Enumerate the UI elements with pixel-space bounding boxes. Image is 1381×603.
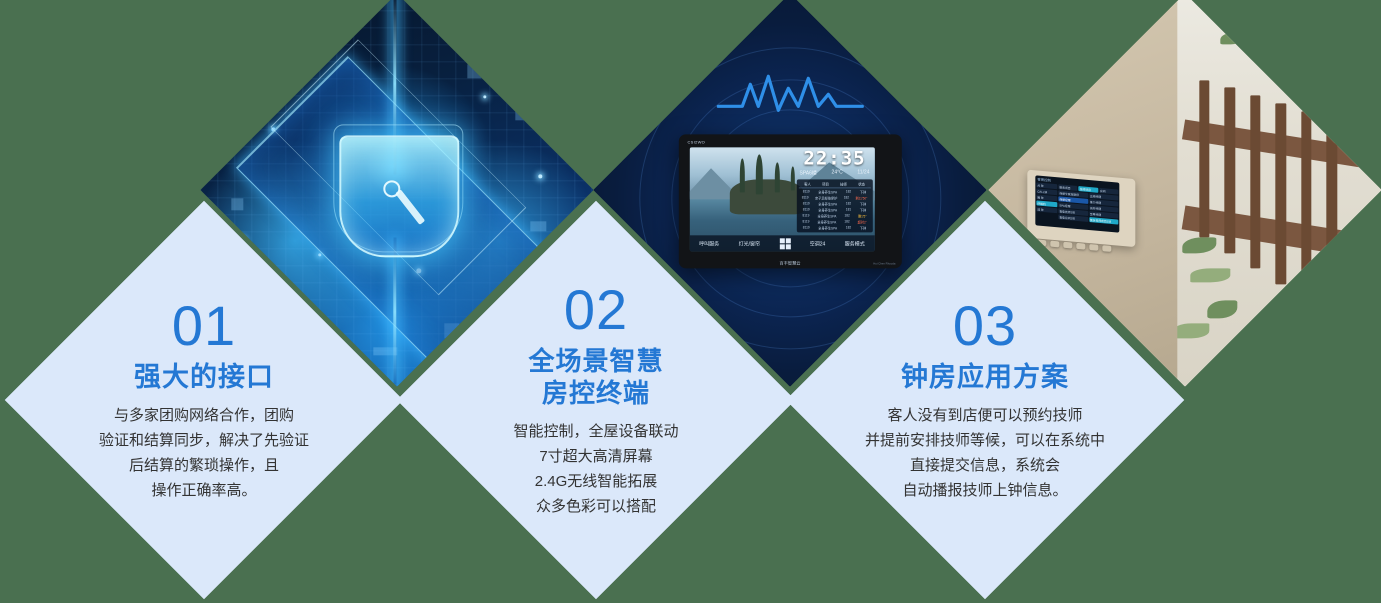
- card-body-line: 并提前安排技师等候，可以在系统中: [820, 428, 1150, 453]
- cell-tech: 182: [844, 196, 849, 201]
- room-control-tablet: CSI2WO 22:35: [678, 135, 901, 269]
- panel-right-pane[interactable]: 服务项目 技师项目 房间 保健专家按摩师 保健经理 SPA经理: [1059, 184, 1119, 225]
- cell-tech: 182: [846, 202, 851, 207]
- cell-tech: 182: [846, 190, 851, 195]
- card-body: 与多家团购网络合作，团购 验证和结算同步，解决了先验证 后结算的繁琐操作，且 操…: [39, 403, 369, 503]
- cell-status: 下钟: [860, 202, 866, 207]
- card-title-line: 全场景智慧: [431, 345, 761, 377]
- cell-guest: 8119: [803, 220, 810, 225]
- cell-item: 全身养生SPA: [818, 208, 837, 213]
- panel-button[interactable]: [1077, 243, 1086, 250]
- cell-tech: 182: [846, 226, 851, 231]
- card-body-line: 后结算的繁琐操作，且: [39, 453, 369, 478]
- table-row: 8119 全身养生SPA 182 下钟: [798, 225, 870, 231]
- tablet-temperature: 24°C: [832, 170, 843, 177]
- cell-item: 全身养生SPA: [818, 202, 837, 207]
- cell-status: 下钟: [860, 208, 866, 213]
- tablet-location: SPA6楼: [799, 170, 816, 177]
- card-title: 钟房应用方案: [820, 361, 1150, 393]
- card-body-line: 7寸超大高清屏幕: [431, 444, 761, 469]
- tablet-date: 11/24: [857, 170, 869, 177]
- shield-icon: [339, 135, 459, 257]
- card-body-line: 操作正确率高。: [39, 478, 369, 503]
- cell-tech: 182: [845, 214, 850, 219]
- card-body: 客人没有到店便可以预约技师 并提前安排技师等候，可以在系统中 直接提交信息，系统…: [820, 403, 1150, 503]
- cell-guest: 8119: [803, 214, 810, 219]
- cell-tech: 182: [844, 220, 849, 225]
- th-tech: 技师: [840, 182, 847, 187]
- btn-air-conditioner[interactable]: 空调24: [810, 240, 826, 247]
- cell-item: 全身养生SPA: [818, 190, 837, 195]
- btn-light-curtain[interactable]: 灯光/窗帘: [739, 240, 760, 247]
- wall-control-panel[interactable]: 客房控制 点 钟 CALL钟 圈 钟 终端机 选 钟: [1028, 170, 1136, 247]
- card-body-line: 与多家团购网络合作，团购: [39, 403, 369, 428]
- table-row: 8119 全身养生SPA 181 下钟: [798, 207, 870, 213]
- table-header-row: 客人 项目 技师 状态: [798, 182, 870, 189]
- cell-status: 下钟: [860, 226, 866, 231]
- cell-item: 全身养生SPA: [817, 220, 836, 225]
- cell-item: 亲子足部按摩护: [815, 196, 837, 201]
- th-guest: 客人: [804, 182, 811, 187]
- card-content: 02 全场景智慧 房控终端 智能控制，全屋设备联动 7寸超大高清屏幕 2.4G无…: [431, 281, 761, 519]
- th-item: 项目: [822, 182, 829, 187]
- table-row: 8119 全身养生SPA 182 超时2': [798, 219, 870, 225]
- tablet-time: 22:35: [796, 150, 872, 169]
- cell-item: 全身养生SPA: [818, 226, 837, 231]
- cell-guest: 8119: [803, 190, 810, 195]
- cell-item: 全身养生SPA: [818, 214, 837, 219]
- btn-call-service[interactable]: 呼叫服务: [699, 240, 719, 247]
- panel-screen[interactable]: 客房控制 点 钟 CALL钟 圈 钟 终端机 选 钟: [1036, 175, 1120, 232]
- cell-guest: 8119: [803, 202, 810, 207]
- room-background-right: [1169, 0, 1381, 387]
- tablet-footer-brand: 百丰智慧云: [678, 261, 901, 267]
- th-status: 状态: [858, 182, 865, 187]
- tablet-screen: 22:35 SPA6楼 24°C 11/24 客人 项目 技师: [689, 148, 874, 252]
- light-beam-lower: [393, 237, 396, 386]
- tablet-bottom-bar: 呼叫服务 灯光/窗帘 空调24 服务模式: [689, 236, 874, 252]
- pulse-wave-icon: [716, 72, 864, 118]
- card-body-line: 2.4G无线智能拓展: [431, 469, 761, 494]
- card-content: 01 强大的接口 与多家团购网络合作，团购 验证和结算同步，解决了先验证 后结算…: [39, 297, 369, 503]
- diamond-feature-layout: CSI2WO 22:35: [0, 0, 1381, 603]
- card-body-line: 客人没有到店便可以预约技师: [820, 403, 1150, 428]
- cell-guest: 8119: [803, 208, 810, 213]
- cell-guest: 8119: [802, 196, 809, 201]
- panel-menu-item[interactable]: 选 钟: [1037, 206, 1058, 213]
- card-title-line: 房控终端: [431, 377, 761, 409]
- cell-status: 剩1'5": [858, 214, 866, 219]
- card-body: 智能控制，全屋设备联动 7寸超大高清屏幕 2.4G无线智能拓展 众多色彩可以搭配: [431, 419, 761, 519]
- cell-status: 下钟: [860, 190, 866, 195]
- card-body-line: 智能控制，全屋设备联动: [431, 419, 761, 444]
- card-body-line: 直接提交信息，系统会: [820, 453, 1150, 478]
- panel-left-menu[interactable]: 点 钟 CALL钟 圈 钟 终端机 选 钟: [1037, 182, 1058, 220]
- card-title: 全场景智慧 房控终端: [431, 345, 761, 409]
- tablet-brand-label: CSI2WO: [687, 140, 705, 145]
- panel-button[interactable]: [1038, 239, 1047, 246]
- key-shaft-icon: [395, 189, 425, 225]
- btn-service-mode[interactable]: 服务模式: [845, 240, 865, 247]
- panel-button[interactable]: [1090, 244, 1099, 251]
- panel-button[interactable]: [1051, 241, 1060, 248]
- table-row: 8119 全身养生SPA 182 下钟: [798, 201, 870, 207]
- cell-status: 超时2': [858, 220, 867, 225]
- card-body-line: 众多色彩可以搭配: [431, 494, 761, 519]
- table-row: 8119 全身养生SPA 182 剩1'5": [798, 213, 870, 219]
- card-body-line: 验证和结算同步，解决了先验证: [39, 428, 369, 453]
- panel-button[interactable]: [1064, 242, 1073, 249]
- card-title: 强大的接口: [39, 361, 369, 393]
- home-grid-icon[interactable]: [779, 238, 790, 249]
- table-row: 8119 全身养生SPA 182 下钟: [798, 189, 870, 195]
- cell-status: 剩11'50": [855, 196, 867, 201]
- tablet-service-table: 客人 项目 技师 状态 8119 全身养生SPA 182 下钟: [796, 180, 872, 233]
- cell-guest: 8119: [803, 226, 810, 231]
- panel-button[interactable]: [1103, 245, 1112, 252]
- tablet-footer-right: Hui Chen Rhouda: [873, 262, 895, 266]
- tablet-clock-widget: 22:35 SPA6楼 24°C 11/24: [796, 150, 872, 177]
- card-body-line: 自动播报技师上钟信息。: [820, 478, 1150, 503]
- cell-tech: 181: [846, 208, 851, 213]
- card-content: 03 钟房应用方案 客人没有到店便可以预约技师 并提前安排技师等候，可以在系统中…: [820, 297, 1150, 503]
